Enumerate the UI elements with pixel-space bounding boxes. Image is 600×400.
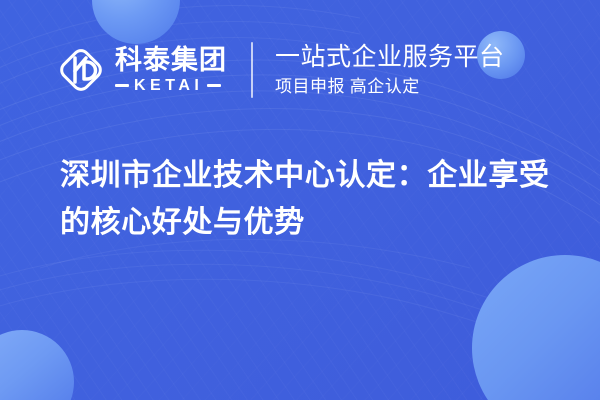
decor-circle-bottom-left — [0, 330, 74, 400]
page-title: 深圳市企业技术中心认定：企业享受的核心好处与优势 — [60, 152, 560, 247]
brand-rule-right — [207, 84, 221, 87]
decor-circle-bottom-right — [472, 255, 600, 400]
banner-header: 科泰集团 KETAI 一站式企业服务平台 项目申报 高企认定 — [0, 0, 600, 140]
header-divider — [251, 42, 253, 98]
brand-lockup: 科泰集团 KETAI — [56, 45, 227, 95]
promo-banner: 科泰集团 KETAI 一站式企业服务平台 项目申报 高企认定 深圳市企业技术中心… — [0, 0, 600, 400]
ketai-monogram-logo-icon — [56, 45, 106, 95]
brand-name-cn: 科泰集团 — [115, 46, 227, 74]
tagline-main: 一站式企业服务平台 — [275, 43, 505, 73]
brand-name-latin: KETAI — [134, 78, 203, 94]
brand-rule-left — [115, 84, 129, 87]
tagline-block: 一站式企业服务平台 项目申报 高企认定 — [275, 43, 505, 97]
tagline-sub: 项目申报 高企认定 — [275, 76, 505, 97]
brand-latin-row: KETAI — [115, 78, 227, 94]
brand-wordmark: 科泰集团 KETAI — [115, 46, 227, 93]
